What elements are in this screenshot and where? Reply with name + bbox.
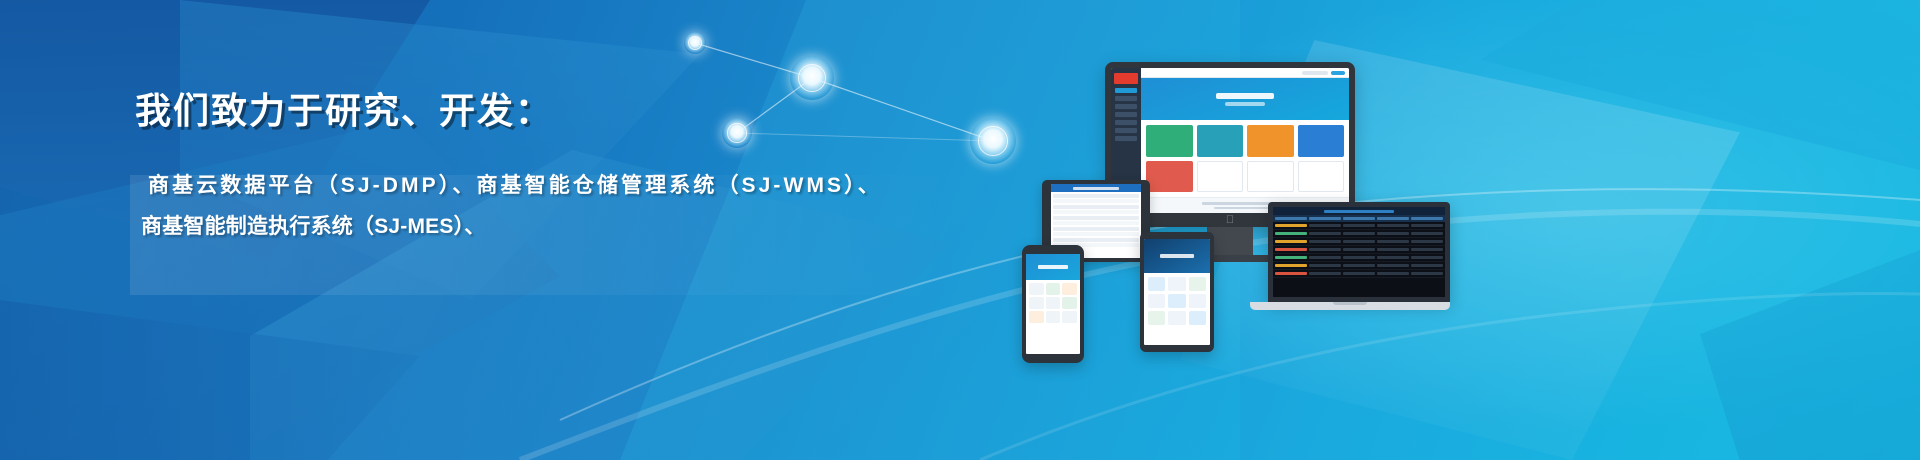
tablet-app-6 — [1189, 294, 1206, 308]
imac-hero-title — [1216, 93, 1274, 99]
table-row — [1273, 254, 1445, 262]
imac-tile-7 — [1247, 161, 1294, 193]
phone-app-9 — [1062, 311, 1077, 323]
table-row — [1273, 262, 1445, 270]
phone-app-5 — [1046, 297, 1061, 309]
table-row — [1053, 227, 1139, 231]
tablet-app-8 — [1168, 311, 1185, 325]
table-row — [1053, 232, 1139, 236]
phone-app-7 — [1029, 311, 1044, 323]
phone-mockup — [1022, 245, 1084, 363]
copy-block: 我们致力于研究、开发： 商基云数据平台（SJ-DMP）、商基智能仓储管理系统（S… — [135, 88, 955, 248]
tablet-titlebar — [1051, 184, 1141, 192]
product-line-1: 商基云数据平台（SJ-DMP）、商基智能仓储管理系统（SJ-WMS）、 — [135, 166, 955, 207]
apple-logo-icon:  — [1226, 215, 1234, 226]
imac-tile-4 — [1298, 125, 1345, 157]
table-row — [1053, 205, 1139, 209]
imac-tile-grid — [1141, 120, 1349, 197]
table-row — [1053, 199, 1139, 203]
phone-app-1 — [1029, 283, 1044, 295]
tablet-app-9 — [1189, 311, 1206, 325]
tablet-portrait-screen — [1144, 239, 1210, 345]
table-row — [1273, 222, 1445, 230]
hero-banner: 我们致力于研究、开发： 商基云数据平台（SJ-DMP）、商基智能仓储管理系统（S… — [0, 0, 1920, 460]
laptop-trackpad-notch — [1333, 302, 1367, 305]
laptop-screen — [1273, 207, 1445, 297]
table-row — [1053, 194, 1139, 198]
sidebar-item-dashboard — [1115, 88, 1137, 93]
account-button — [1331, 71, 1345, 75]
table-row — [1053, 238, 1139, 242]
phone-app-8 — [1046, 311, 1061, 323]
page-title: 我们致力于研究、开发： — [135, 88, 955, 133]
sidebar-item-2 — [1115, 104, 1137, 109]
laptop-lid — [1268, 202, 1450, 302]
imac-tile-8 — [1298, 161, 1345, 193]
imac-tile-5 — [1146, 161, 1193, 193]
imac-tile-3 — [1247, 125, 1294, 157]
imac-tile-1 — [1146, 125, 1193, 157]
table-row — [1273, 246, 1445, 254]
table-row — [1053, 210, 1139, 214]
imac-topbar — [1141, 68, 1349, 78]
phone-app-4 — [1029, 297, 1044, 309]
tablet-app-5 — [1168, 294, 1185, 308]
table-row — [1053, 221, 1139, 225]
table-row — [1053, 216, 1139, 220]
table-row — [1273, 230, 1445, 238]
product-list: 商基云数据平台（SJ-DMP）、商基智能仓储管理系统（SJ-WMS）、 商基智能… — [135, 166, 955, 248]
search-input — [1302, 71, 1328, 75]
tablet-portrait-mockup — [1140, 232, 1214, 352]
imac-hero — [1141, 78, 1349, 120]
tablet-app-1 — [1148, 277, 1165, 291]
sidebar-item-4 — [1115, 120, 1137, 125]
phone-app-3 — [1062, 283, 1077, 295]
laptop-mockup — [1250, 202, 1450, 310]
table-row — [1273, 238, 1445, 246]
tablet-app-4 — [1148, 294, 1165, 308]
phone-header — [1026, 254, 1080, 280]
sidebar-item-5 — [1115, 128, 1137, 133]
phone-app-grid — [1026, 280, 1080, 354]
imac-tile-6 — [1197, 161, 1244, 193]
laptop-base — [1250, 302, 1450, 310]
tablet-app-3 — [1189, 277, 1206, 291]
tablet-app-grid — [1144, 273, 1210, 345]
product-line-2: 商基智能制造执行系统（SJ-MES）、 — [135, 207, 955, 248]
phone-app-2 — [1046, 283, 1061, 295]
device-cluster:  — [1000, 0, 1920, 460]
tablet-hero — [1144, 239, 1210, 273]
sidebar-item-1 — [1115, 96, 1137, 101]
tablet-app-7 — [1148, 311, 1165, 325]
brand-logo-icon — [1114, 73, 1138, 84]
tablet-app-2 — [1168, 277, 1185, 291]
phone-app-6 — [1062, 297, 1077, 309]
imac-main — [1141, 68, 1349, 213]
laptop-titlebar — [1273, 207, 1445, 215]
imac-tile-2 — [1197, 125, 1244, 157]
table-header-row — [1273, 215, 1445, 222]
network-node-1 — [684, 32, 706, 54]
phone-screen — [1026, 254, 1080, 354]
sidebar-item-6 — [1115, 136, 1137, 141]
imac-hero-subtitle — [1225, 102, 1265, 106]
table-row — [1273, 270, 1445, 278]
sidebar-item-3 — [1115, 112, 1137, 117]
